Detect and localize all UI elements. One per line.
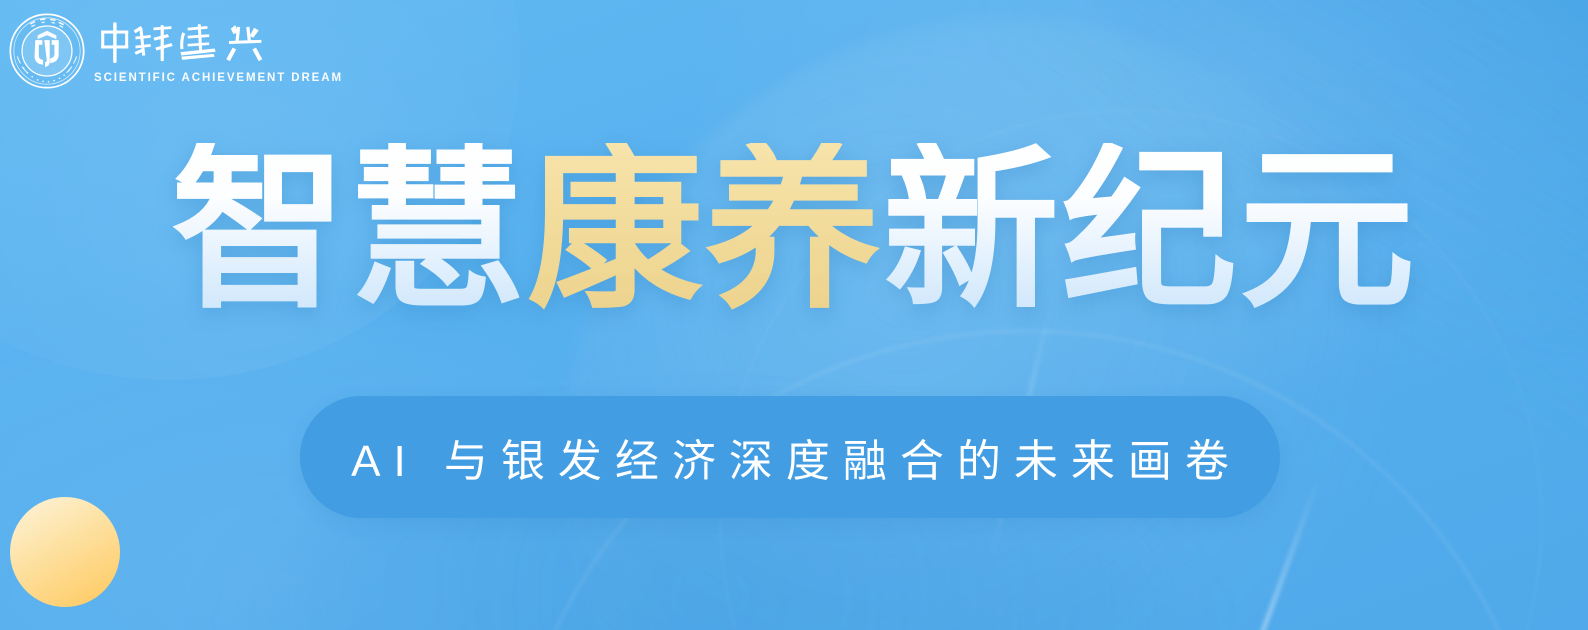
brand-logo[interactable]: SCIENTIFIC ACHIEVEMENT DREAM [8, 8, 343, 94]
circular-seal-emblem-icon [8, 12, 86, 90]
headline-segment-3: 新纪元 [883, 143, 1417, 319]
hero-banner: SCIENTIFIC ACHIEVEMENT DREAM 智慧康养新纪元 AI … [0, 0, 1588, 630]
brand-tagline-en: SCIENTIFIC ACHIEVEMENT DREAM [94, 73, 343, 85]
subtitle-text: AI 与银发经济深度融合的未来画卷 [338, 425, 1242, 489]
subtitle-pill: AI 与银发经济深度融合的未来画卷 [300, 396, 1280, 518]
yellow-accent-circle [10, 497, 120, 607]
headline-segment-1: 智慧 [171, 143, 527, 319]
page-title: 智慧康养新纪元 [0, 143, 1588, 319]
zhongke-jianxing-wordmark-icon [94, 19, 274, 69]
brand-wordmark: SCIENTIFIC ACHIEVEMENT DREAM [94, 19, 343, 85]
headline-segment-2: 康养 [527, 143, 883, 319]
